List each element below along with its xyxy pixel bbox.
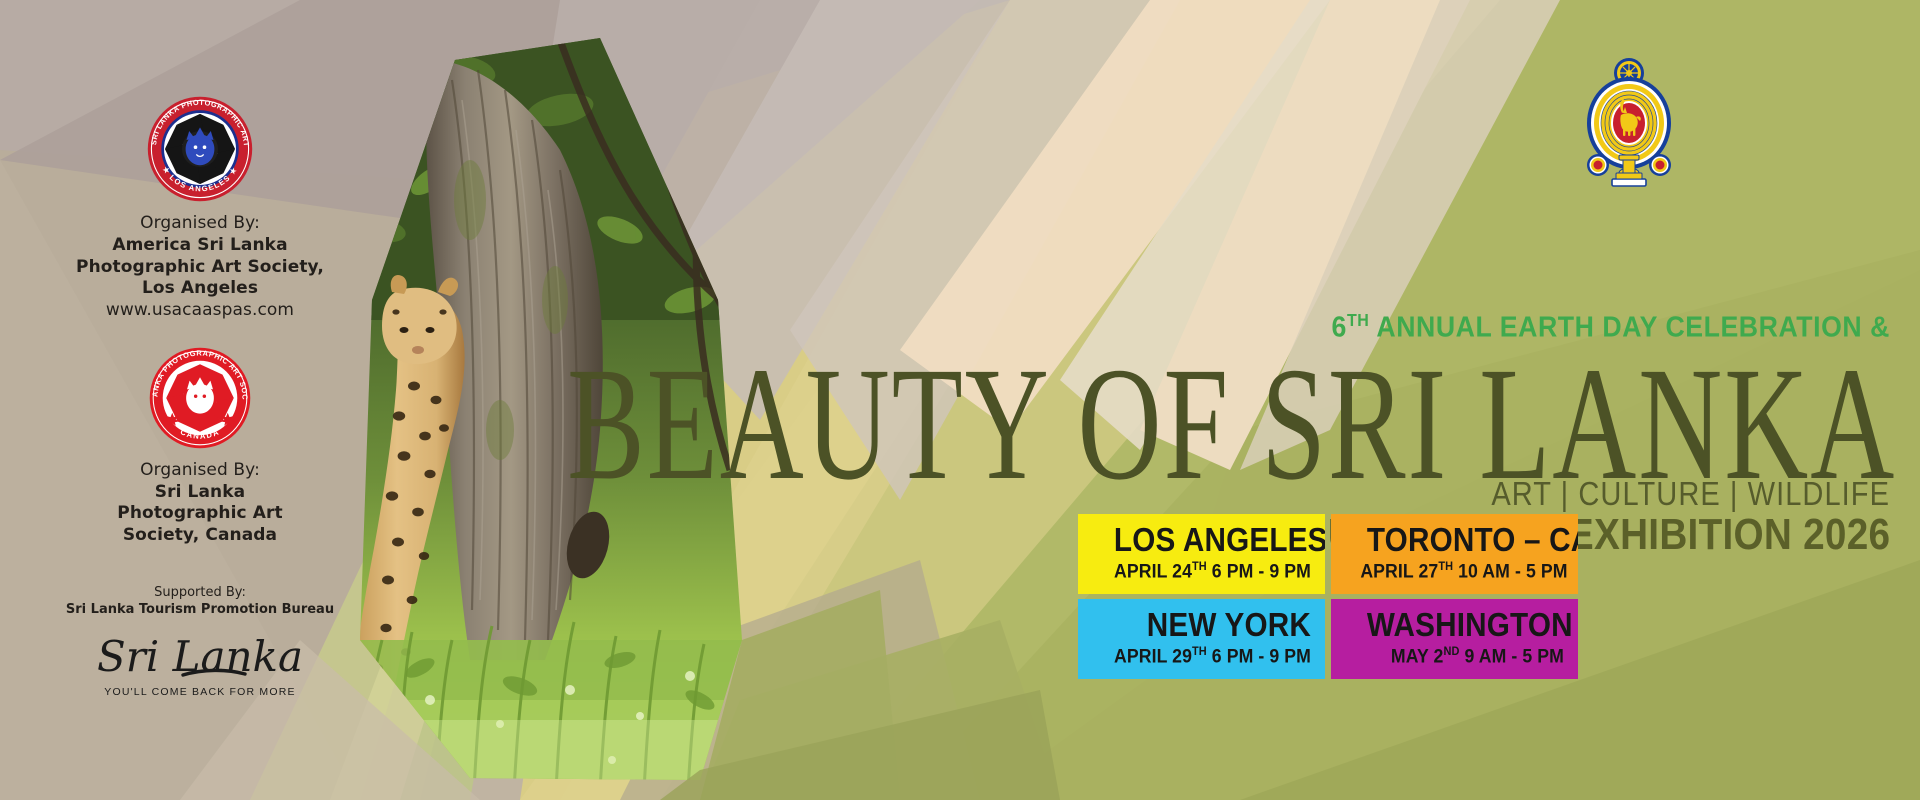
city-date-time: 6 PM - 9 PM <box>1207 561 1311 582</box>
asl-logo-wrap: AMERICA SRI LANKA PHOTOGRAPHIC ART SOCIE… <box>60 95 340 203</box>
city-date-day: APRIL 24 <box>1114 561 1192 582</box>
spacer <box>60 322 340 346</box>
city-date: APRIL 29TH 6 PM - 9 PM <box>1107 645 1311 668</box>
organiser-2-lead: Organised By: <box>60 460 340 482</box>
city-date-day: MAY 2 <box>1391 646 1444 667</box>
organiser-1-line1: America Sri Lanka <box>60 235 340 257</box>
city-name: WASHINGTON DC <box>1367 608 1564 642</box>
city-card-new-york[interactable]: NEW YORK APRIL 29TH 6 PM - 9 PM <box>1078 599 1325 679</box>
svg-text:Sri Lanka: Sri Lanka <box>97 632 303 681</box>
city-date-time: 6 PM - 9 PM <box>1207 646 1311 667</box>
city-name: LOS ANGELES <box>1114 523 1311 557</box>
city-date-day: APRIL 27 <box>1360 561 1438 582</box>
sri-lanka-slogan: YOU'LL COME BACK FOR MORE <box>104 686 295 698</box>
america-sri-lanka-photographic-art-society-logo: AMERICA SRI LANKA PHOTOGRAPHIC ART SOCIE… <box>146 95 254 203</box>
city-date-ordinal: TH <box>1438 560 1453 573</box>
organiser-2-block: Organised By: Sri Lanka Photographic Art… <box>60 460 340 547</box>
city-date-day: APRIL 29 <box>1114 646 1192 667</box>
city-card-los-angeles[interactable]: LOS ANGELES APRIL 24TH 6 PM - 9 PM <box>1078 514 1325 594</box>
city-date-time: 10 AM - 5 PM <box>1453 561 1567 582</box>
city-schedule-grid: LOS ANGELES APRIL 24TH 6 PM - 9 PM TORON… <box>1078 514 1692 679</box>
city-date-ordinal: ND <box>1443 645 1459 658</box>
city-date: MAY 2ND 9 AM - 5 PM <box>1360 645 1564 668</box>
sri-lanka-tourism-logo-wrap: Sri Lanka YOU'LL COME BACK FOR MORE <box>60 627 340 701</box>
sri-lanka-tourism-brand-logo: Sri Lanka YOU'LL COME BACK FOR MORE <box>95 627 305 701</box>
city-card-toronto[interactable]: TORONTO – CANADA APRIL 27TH 10 AM - 5 PM <box>1331 514 1578 594</box>
spacer <box>60 547 340 585</box>
organisers-column: AMERICA SRI LANKA PHOTOGRAPHIC ART SOCIE… <box>60 95 340 701</box>
kicker-ordinal: TH <box>1347 310 1369 330</box>
city-name: TORONTO – CANADA <box>1367 523 1564 557</box>
organiser-2-line1: Sri Lanka <box>60 482 340 504</box>
emblem-wrap <box>1578 55 1680 202</box>
sri-lanka-national-emblem <box>1578 55 1680 197</box>
supporter-name: Sri Lanka Tourism Promotion Bureau <box>60 602 340 619</box>
city-name: NEW YORK <box>1114 608 1311 642</box>
organiser-1-line3: Los Angeles <box>60 278 340 300</box>
city-date-time: 9 AM - 5 PM <box>1459 646 1564 667</box>
organiser-1-block: Organised By: America Sri Lanka Photogra… <box>60 213 340 322</box>
city-date-ordinal: TH <box>1192 560 1207 573</box>
city-card-washington-dc[interactable]: WASHINGTON DC MAY 2ND 9 AM - 5 PM <box>1331 599 1578 679</box>
supporter-block: Supported By: Sri Lanka Tourism Promotio… <box>60 585 340 619</box>
organiser-1-lead: Organised By: <box>60 213 340 235</box>
organiser-1-website[interactable]: www.usacaaspas.com <box>60 300 340 322</box>
organiser-2-line3: Society, Canada <box>60 525 340 547</box>
city-date: APRIL 27TH 10 AM - 5 PM <box>1360 560 1564 583</box>
sri-lanka-photographic-art-society-canada-logo: SRI LANKA PHOTOGRAPHIC ART SOCIETY CANAD… <box>148 346 252 450</box>
poster-canvas: AMERICA SRI LANKA PHOTOGRAPHIC ART SOCIE… <box>0 0 1920 800</box>
organiser-2-line2: Photographic Art <box>60 503 340 525</box>
city-date: APRIL 24TH 6 PM - 9 PM <box>1107 560 1311 583</box>
tagline: ART | CULTURE | WILDLIFE <box>1491 475 1890 513</box>
city-date-ordinal: TH <box>1192 645 1207 658</box>
organiser-1-line2: Photographic Art Society, <box>60 257 340 279</box>
slc-logo-wrap: SRI LANKA PHOTOGRAPHIC ART SOCIETY CANAD… <box>60 346 340 450</box>
supporter-lead: Supported By: <box>60 585 340 602</box>
